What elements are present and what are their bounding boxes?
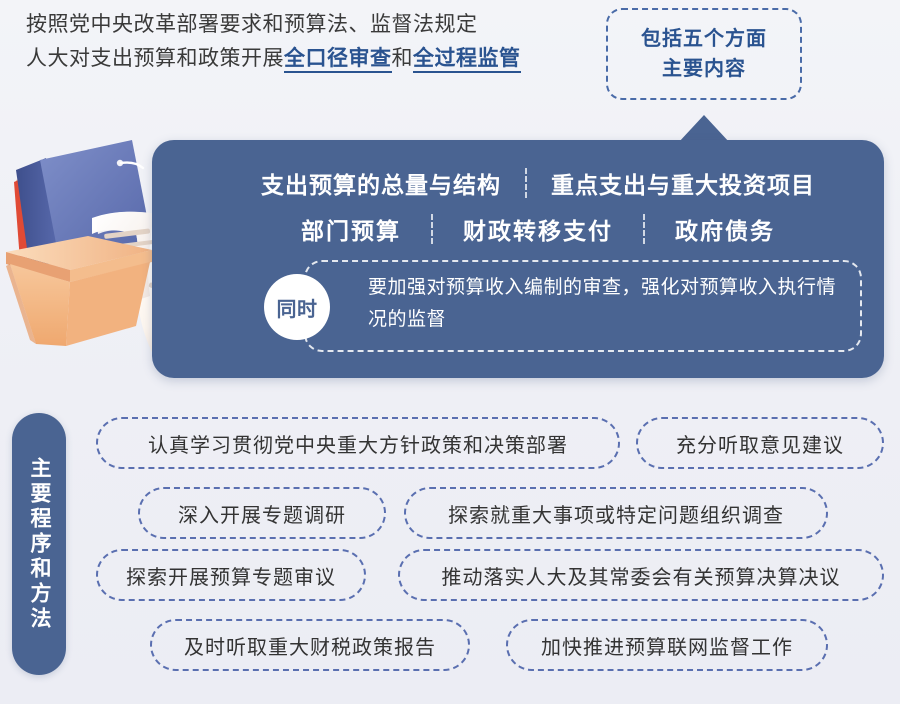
chip-item[interactable]: 探索开展预算专题审议 bbox=[96, 549, 366, 601]
chip-item[interactable]: 加快推进预算联网监督工作 bbox=[506, 619, 828, 671]
chip-item[interactable]: 认真学习贯彻党中央重大方针政策和决策部署 bbox=[96, 417, 620, 469]
infographic-canvas: 按照党中央改革部署要求和预算法、监督法规定 人大对支出预算和政策开展全口径审查和… bbox=[0, 0, 900, 704]
chip-item[interactable]: 深入开展专题调研 bbox=[138, 487, 386, 539]
procedure-chip-group: 认真学习贯彻党中央重大方针政策和决策部署 充分听取意见建议 深入开展专题调研 探… bbox=[0, 0, 900, 704]
chip-item[interactable]: 推动落实人大及其常委会有关预算决算决议 bbox=[398, 549, 884, 601]
chip-item[interactable]: 及时听取重大财税政策报告 bbox=[150, 619, 470, 671]
chip-item[interactable]: 充分听取意见建议 bbox=[636, 417, 884, 469]
chip-item[interactable]: 探索就重大事项或特定问题组织调查 bbox=[404, 487, 828, 539]
